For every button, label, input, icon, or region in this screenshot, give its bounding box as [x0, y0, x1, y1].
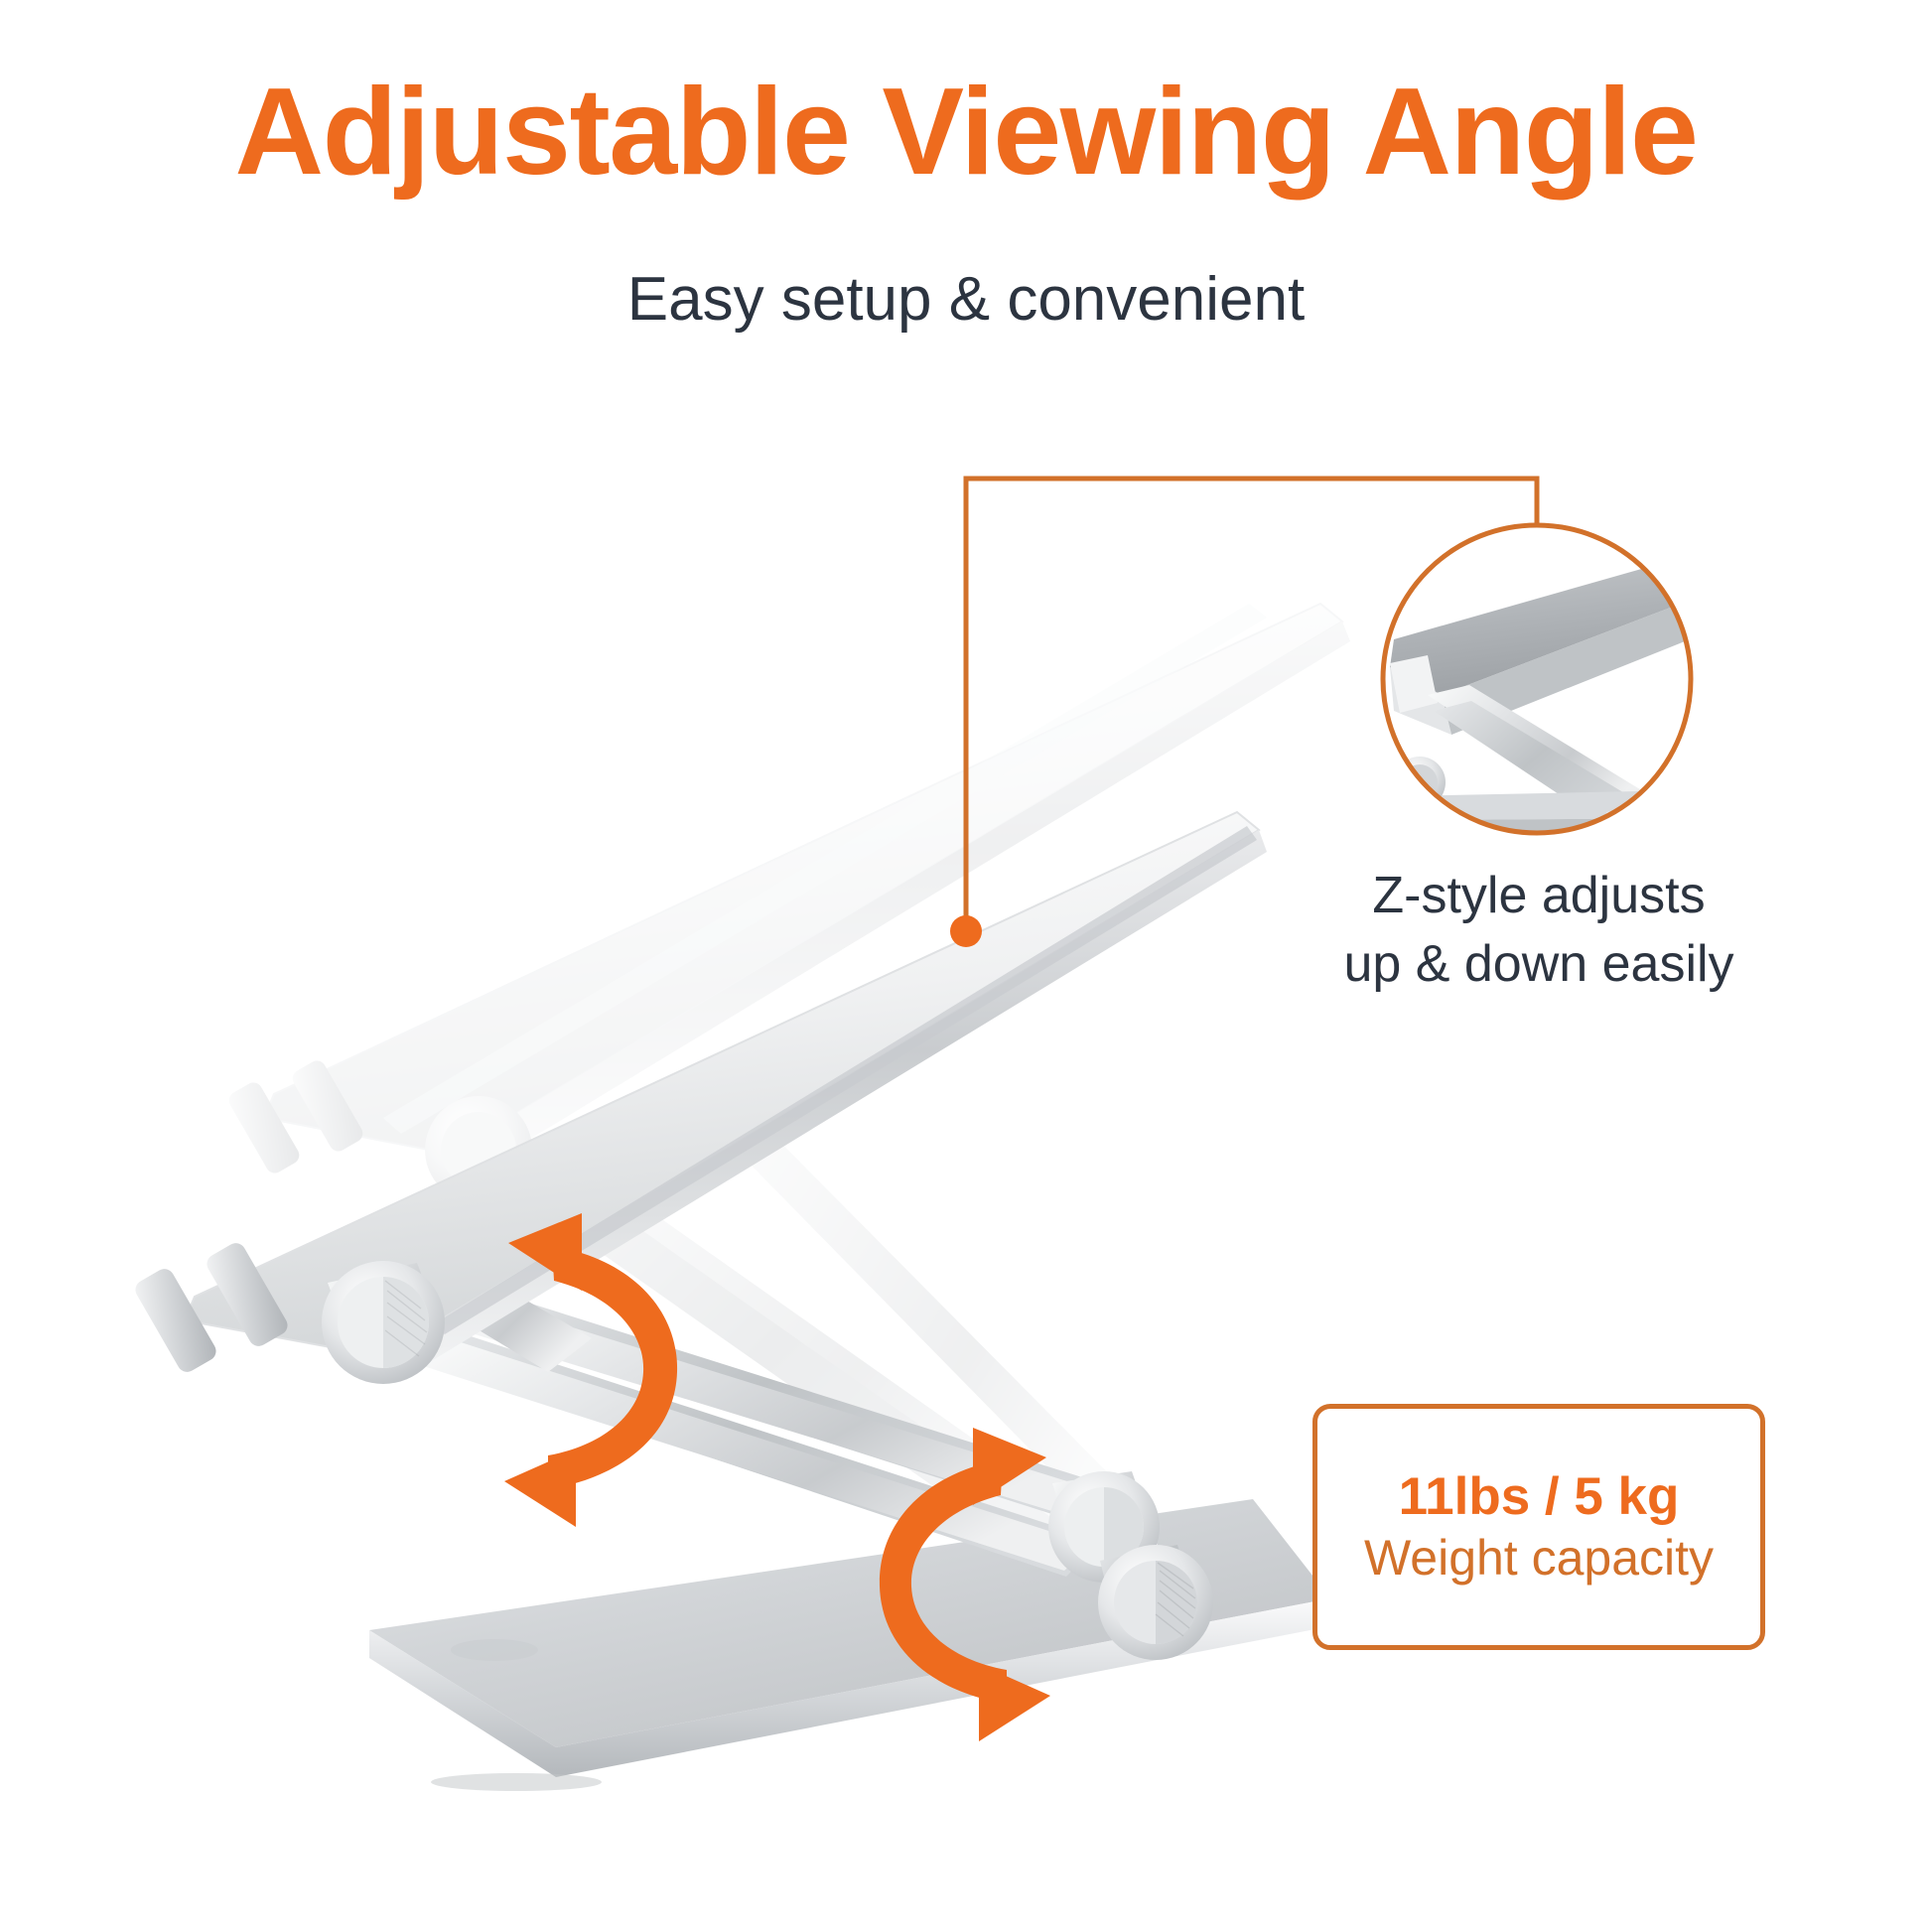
zstyle-caption-line2: up & down easily	[1281, 930, 1797, 999]
weight-capacity-value: 11lbs / 5 kg	[1399, 1466, 1680, 1529]
rotation-arrow-lower	[880, 1428, 1050, 1741]
tray-retaining-lips	[132, 1239, 291, 1375]
page-title: Adjustable Viewing Angle	[0, 68, 1932, 198]
base-plate	[369, 1499, 1330, 1791]
laptop-tray	[185, 604, 1267, 1382]
weight-capacity-badge: 11lbs / 5 kg Weight capacity	[1312, 1404, 1765, 1650]
zstyle-callout-caption: Z-style adjusts up & down easily	[1281, 862, 1797, 998]
weight-capacity-label: Weight capacity	[1364, 1528, 1714, 1587]
lower-hinge-knob	[1048, 1471, 1213, 1660]
page-subtitle: Easy setup & convenient	[0, 266, 1932, 334]
magnified-detail-circle	[1383, 525, 1729, 862]
callout-anchor-dot	[950, 915, 982, 947]
upper-hinge-knob	[322, 1261, 449, 1384]
support-arms	[397, 1255, 1120, 1577]
rotation-arrow-upper	[504, 1213, 677, 1527]
zstyle-caption-line1: Z-style adjusts	[1281, 862, 1797, 930]
ghosted-raised-position	[225, 604, 1350, 1569]
infographic-canvas: Adjustable Viewing Angle Easy setup & co…	[0, 0, 1932, 1932]
